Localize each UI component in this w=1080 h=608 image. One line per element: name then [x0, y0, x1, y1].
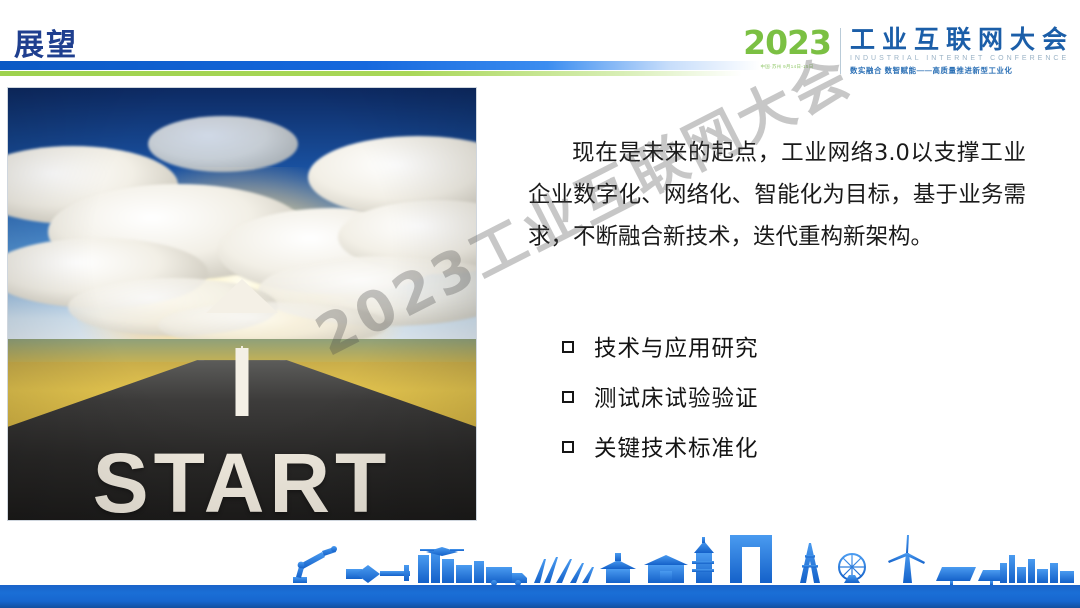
logo-year: 2023: [743, 26, 831, 61]
header-rule-blue: [0, 61, 760, 70]
bullet-label: 技术与应用研究: [594, 331, 759, 363]
square-bullet-icon: [562, 441, 574, 453]
bullet-label: 测试床试验验证: [594, 381, 759, 413]
bullet-item-1: 测试床试验验证: [562, 372, 982, 422]
bullet-label: 关键技术标准化: [594, 431, 759, 463]
header-rule-green: [0, 71, 742, 76]
logo-main-title: 工业互联网大会: [850, 26, 1074, 53]
slide-header: 展望 2023 中国·苏州 9月14日-15日 工业互联网大会 INDUSTRI…: [0, 0, 1080, 88]
square-bullet-icon: [562, 341, 574, 353]
square-bullet-icon: [562, 391, 574, 403]
bullet-item-0: 技术与应用研究: [562, 322, 982, 372]
conference-logo: 2023 中国·苏州 9月14日-15日 工业互联网大会 INDUSTRIAL …: [743, 26, 1074, 76]
footer-band: [0, 585, 1080, 608]
logo-title-block: 工业互联网大会 INDUSTRIAL INTERNET CONFERENCE 数…: [841, 26, 1074, 76]
logo-english-title: INDUSTRIAL INTERNET CONFERENCE: [850, 55, 1074, 62]
bullet-list: 技术与应用研究 测试床试验验证 关键技术标准化: [562, 322, 982, 472]
city-skyline-icon: [0, 535, 1080, 587]
bullet-item-2: 关键技术标准化: [562, 422, 982, 472]
road-photo: START: [8, 88, 476, 520]
logo-subtitle: 数实融合 数智赋能——高质量推进新型工业化: [850, 65, 1074, 76]
body-paragraph: 现在是未来的起点，工业网络3.0以支撑工业企业数字化、网络化、智能化为目标，基于…: [528, 132, 1026, 258]
logo-date-location: 中国·苏州 9月14日-15日: [743, 64, 831, 70]
logo-year-block: 2023 中国·苏州 9月14日-15日: [743, 26, 840, 70]
slide-footer: [0, 536, 1080, 608]
page-title: 展望: [14, 20, 78, 64]
photo-vignette: [8, 88, 476, 520]
